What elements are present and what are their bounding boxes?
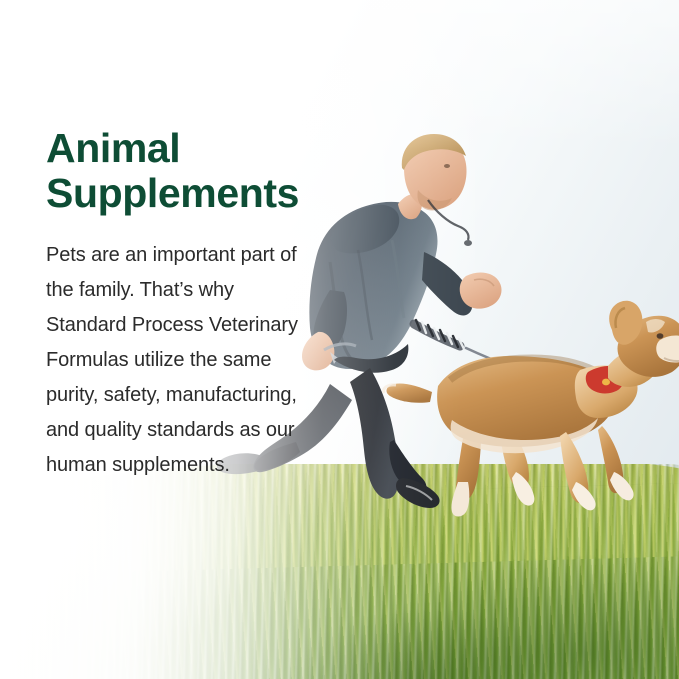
dog-eye <box>657 333 664 339</box>
text-block: Animal Supplements Pets are an important… <box>46 126 346 483</box>
collar-tag <box>602 379 610 386</box>
body-paragraph: Pets are an important part of the family… <box>46 216 308 483</box>
animal-supplements-banner: Animal Supplements Pets are an important… <box>0 0 679 679</box>
page-title: Animal Supplements <box>46 126 346 216</box>
dog-tail <box>387 383 432 402</box>
dog-hind-paw-far <box>451 482 469 517</box>
